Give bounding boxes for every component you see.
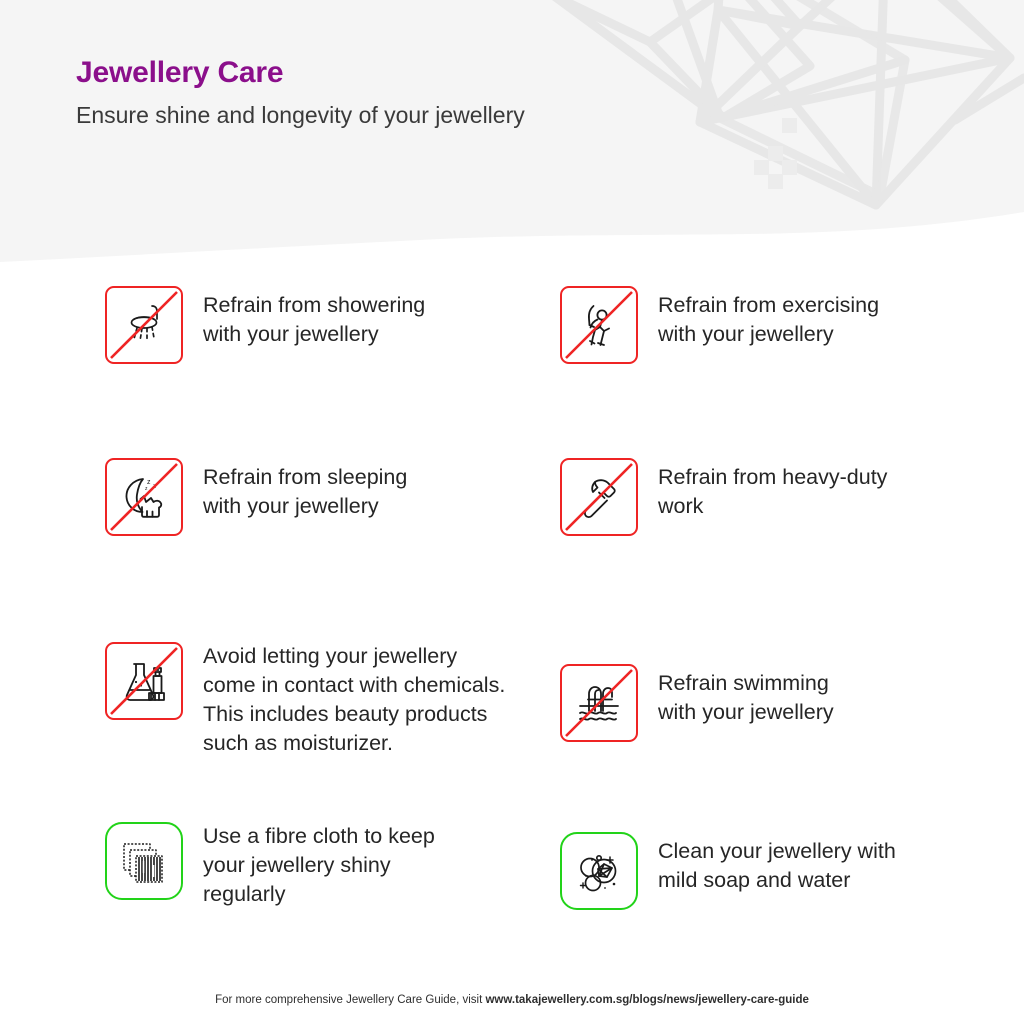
prohibited-icon-box <box>560 286 638 364</box>
header-text-block: Jewellery Care Ensure shine and longevit… <box>76 54 525 130</box>
care-item-label: Refrain from exercising with your jewell… <box>658 286 879 349</box>
footer-note: For more comprehensive Jewellery Care Gu… <box>0 992 1024 1008</box>
care-item-heavy-duty-work: Refrain from heavy-duty work <box>560 458 887 536</box>
care-item-exercising: Refrain from exercising with your jewell… <box>560 286 879 364</box>
prohibited-icon-box: z z z <box>105 458 183 536</box>
care-item-swimming: Refrain swimming with your jewellery <box>560 664 834 742</box>
care-item-fibre-cloth: Use a fibre cloth to keep your jewellery… <box>105 822 435 909</box>
shower-head-icon <box>116 297 172 353</box>
care-item-showering: Refrain from showering with your jewelle… <box>105 286 425 364</box>
recommended-icon-box <box>560 832 638 910</box>
svg-text:z: z <box>147 479 151 486</box>
prohibited-icon-box <box>105 286 183 364</box>
diamond-watermark-icon <box>0 0 1024 262</box>
prohibited-icon-box <box>560 664 638 742</box>
svg-text:z: z <box>153 484 156 490</box>
person-exercising-icon <box>571 297 627 353</box>
footer-prefix: For more comprehensive Jewellery Care Gu… <box>215 994 485 1006</box>
hammer-icon <box>571 469 627 525</box>
care-item-sleeping: z z z Refrain from sleeping with your je… <box>105 458 407 536</box>
page-subtitle: Ensure shine and longevity of your jewel… <box>76 100 525 130</box>
care-item-label: Use a fibre cloth to keep your jewellery… <box>203 822 435 909</box>
fibre-cloth-stack-icon <box>116 833 172 889</box>
infographic-page: Jewellery Care Ensure shine and longevit… <box>0 0 1024 1024</box>
care-items-grid: Refrain from showering with your jewelle… <box>0 276 1024 936</box>
care-item-label: Refrain from heavy-duty work <box>658 458 887 521</box>
svg-text:z: z <box>145 486 148 492</box>
footer-url[interactable]: www.takajewellery.com.sg/blogs/news/jewe… <box>485 994 808 1006</box>
recommended-icon-box <box>105 822 183 900</box>
prohibited-icon-box <box>560 458 638 536</box>
care-item-mild-soap: Clean your jewellery with mild soap and … <box>560 832 896 910</box>
prohibited-icon-box <box>105 642 183 720</box>
care-item-label: Clean your jewellery with mild soap and … <box>658 832 896 895</box>
swimming-pool-ladder-icon <box>571 675 627 731</box>
soap-bubbles-gem-icon <box>571 843 627 899</box>
chemical-flask-bottles-icon <box>116 653 172 709</box>
header-banner: Jewellery Care Ensure shine and longevit… <box>0 0 1024 262</box>
care-item-label: Refrain from sleeping with your jeweller… <box>203 458 407 521</box>
care-item-label: Refrain swimming with your jewellery <box>658 664 834 727</box>
care-item-chemicals: Avoid letting your jewellery come in con… <box>105 642 505 758</box>
page-title: Jewellery Care <box>76 54 525 92</box>
care-item-label: Refrain from showering with your jewelle… <box>203 286 425 349</box>
moon-sleeping-cat-icon: z z z <box>116 469 172 525</box>
care-item-label: Avoid letting your jewellery come in con… <box>203 642 505 758</box>
